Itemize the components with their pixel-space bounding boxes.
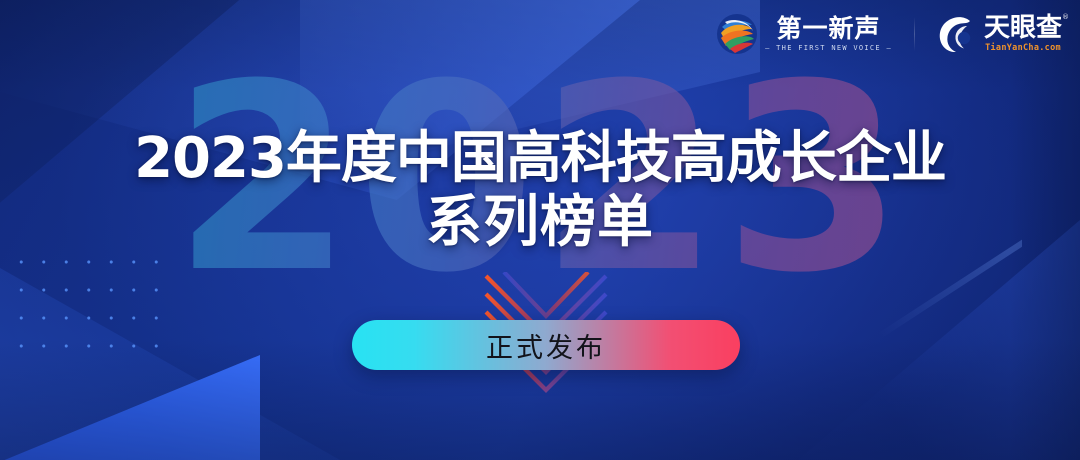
logo-tianyancha-tagline: TianYanCha.com — [985, 44, 1061, 53]
logo-group: 第一新声 — THE FIRST NEW VOICE — 天眼查 TianYan… — [716, 13, 1062, 55]
trademark-symbol: ® — [1062, 13, 1069, 21]
headline-line-1: 2023年度中国高科技高成长企业 — [0, 128, 1080, 190]
logo-divider — [914, 17, 915, 51]
release-status-pill[interactable]: 正式发布 — [352, 320, 740, 370]
logo-diyixinsheng-tagline: — THE FIRST NEW VOICE — — [765, 45, 892, 52]
swirl-globe-icon — [716, 13, 758, 55]
logo-tianyancha-text: 天眼查 TianYanCha.com — [984, 15, 1062, 53]
logo-diyixinsheng-text: 第一新声 — THE FIRST NEW VOICE — — [765, 16, 892, 52]
logo-diyixinsheng[interactable]: 第一新声 — THE FIRST NEW VOICE — — [716, 13, 892, 55]
page-title: 2023年度中国高科技高成长企业 系列榜单 — [0, 128, 1080, 256]
logo-tianyancha-name: 天眼查 — [984, 15, 1062, 41]
logo-diyixinsheng-name: 第一新声 — [777, 16, 881, 41]
release-status-label: 正式发布 — [486, 326, 606, 365]
promo-banner: 2023 — [0, 0, 1080, 460]
logo-tianyancha[interactable]: 天眼查 TianYanCha.com ® — [937, 14, 1062, 54]
camera-aperture-icon — [937, 14, 977, 54]
headline-line-2: 系列榜单 — [0, 190, 1080, 256]
